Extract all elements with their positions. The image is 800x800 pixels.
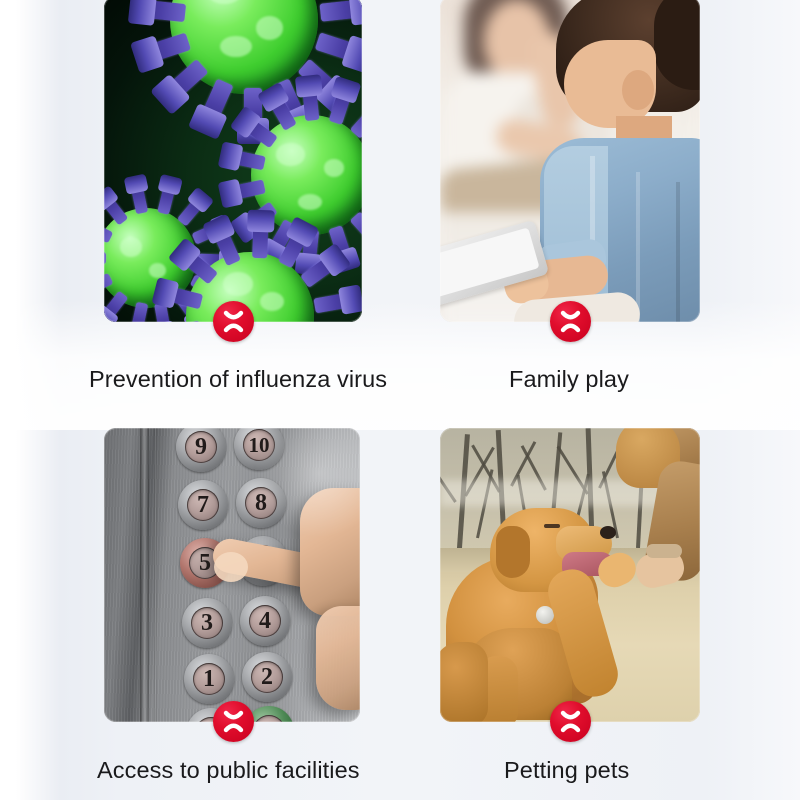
- badge-cross-public-facilities[interactable]: [213, 701, 254, 742]
- photo-family-play[interactable]: [440, 0, 700, 322]
- photo-influenza-virus[interactable]: [104, 0, 362, 322]
- elevator-button-label: 8: [255, 491, 267, 515]
- panel-seam: [154, 428, 157, 722]
- family-play-photo-art: [440, 0, 700, 322]
- elevator-button-label: 0: [263, 719, 275, 722]
- badge-cross-family-play[interactable]: [550, 301, 591, 342]
- elevator-button-label: 4: [259, 609, 271, 633]
- cross-x-icon: [213, 701, 254, 742]
- photo-elevator-panel[interactable]: 9 10 7 8 5: [104, 428, 360, 722]
- photo-petting-pets[interactable]: [440, 428, 700, 722]
- caption-access-to-public-facilities: Access to public facilities: [97, 757, 360, 784]
- elevator-button-1[interactable]: 1: [184, 654, 234, 704]
- dog-eye: [544, 524, 560, 528]
- elevator-button-label: 9: [195, 435, 207, 459]
- cross-x-icon: [550, 701, 591, 742]
- hand-lower: [316, 606, 360, 710]
- caption-petting-pets: Petting pets: [504, 757, 629, 784]
- fingertip: [214, 552, 248, 582]
- elevator-button-label: 2: [261, 665, 273, 689]
- elevator-button-label: 5: [199, 551, 211, 575]
- elevator-button-label: 7: [197, 493, 209, 517]
- elevator-photo-art: 9 10 7 8 5: [104, 428, 360, 722]
- elevator-button-3[interactable]: 3: [182, 598, 232, 648]
- jacket-cuff: [646, 544, 682, 558]
- badge-cross-petting-pets[interactable]: [550, 701, 591, 742]
- caption-family-play: Family play: [509, 366, 629, 393]
- petting-pets-photo-art: [440, 428, 700, 722]
- metal-glare: [254, 428, 360, 538]
- dog-nose: [600, 526, 616, 539]
- panel-seam: [140, 428, 149, 722]
- elevator-button-2[interactable]: 2: [242, 652, 292, 702]
- cross-x-icon: [550, 301, 591, 342]
- photo-grid: Prevention of influenza virus: [0, 0, 800, 800]
- elevator-button-label: 3: [201, 611, 213, 635]
- cross-x-icon: [213, 301, 254, 342]
- elevator-button-label: 10: [249, 435, 270, 456]
- caption-prevention-of-influenza-virus: Prevention of influenza virus: [89, 366, 387, 393]
- badge-cross-influenza[interactable]: [213, 301, 254, 342]
- elevator-button-4[interactable]: 4: [240, 596, 290, 646]
- elevator-button-7[interactable]: 7: [178, 480, 228, 530]
- dog-hind: [440, 642, 488, 722]
- dog-ear: [496, 526, 530, 578]
- virus-photo-art: [104, 0, 362, 322]
- elevator-button-label: 1: [203, 667, 215, 691]
